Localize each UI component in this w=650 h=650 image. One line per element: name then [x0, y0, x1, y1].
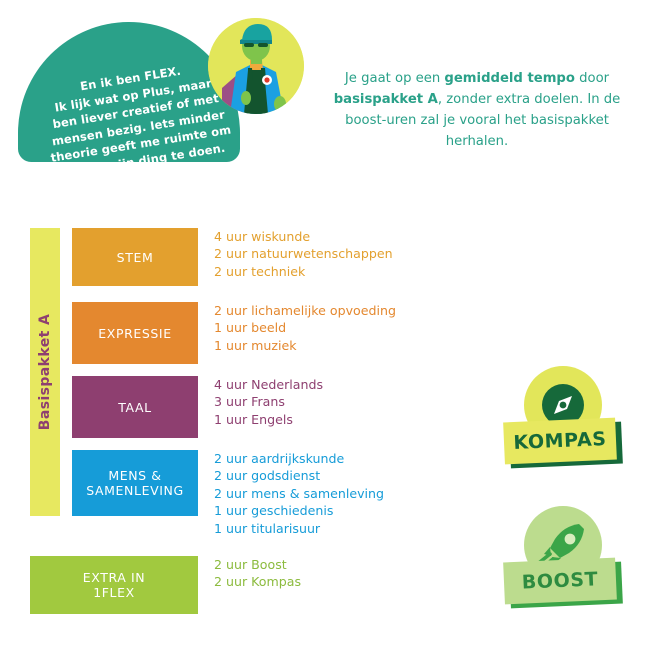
- course-item: 2 uur Kompas: [214, 573, 301, 590]
- domain-course-list: 4 uur Nederlands3 uur Frans1 uur Engels: [214, 376, 323, 428]
- intro-emphasis-tempo: gemiddeld tempo: [444, 71, 575, 86]
- course-item: 4 uur wiskunde: [214, 228, 393, 245]
- speech-bubble: En ik ben FLEX. Ik lijk wat op Plus, maa…: [18, 22, 240, 162]
- badge-plate: BOOST: [503, 558, 617, 605]
- course-item: 1 uur Engels: [214, 411, 323, 428]
- badge-label: BOOST: [521, 568, 598, 593]
- domain-row: STEM4 uur wiskunde2 uur natuurwetenschap…: [0, 228, 650, 286]
- intro-text-part-2: door: [575, 71, 609, 86]
- badge-plate: KOMPAS: [503, 418, 617, 465]
- flex-student-avatar: [208, 18, 304, 114]
- course-item: 3 uur Frans: [214, 393, 323, 410]
- course-item: 2 uur godsdienst: [214, 467, 384, 484]
- course-item: 2 uur Boost: [214, 556, 301, 573]
- domain-chip-expressie[interactable]: EXPRESSIE: [72, 302, 198, 364]
- domain-course-list: 2 uur lichamelijke opvoeding1 uur beeld1…: [214, 302, 396, 354]
- domain-course-list: 4 uur wiskunde2 uur natuurwetenschappen2…: [214, 228, 393, 280]
- domain-row: EXPRESSIE2 uur lichamelijke opvoeding1 u…: [0, 302, 650, 364]
- intro-text-part-1: Je gaat op een: [345, 71, 445, 86]
- badge-boost[interactable]: BOOST: [500, 506, 626, 610]
- course-item: 4 uur Nederlands: [214, 376, 323, 393]
- domain-course-list: 2 uur aardrijkskunde2 uur godsdienst2 uu…: [214, 450, 384, 537]
- domain-chip-stem[interactable]: STEM: [72, 228, 198, 286]
- course-item: 1 uur beeld: [214, 319, 396, 336]
- package-section: Basispakket A STEM4 uur wiskunde2 uur na…: [0, 222, 650, 622]
- course-item: 1 uur geschiedenis: [214, 502, 384, 519]
- badge-kompas[interactable]: KOMPAS: [500, 366, 626, 470]
- badge-label: KOMPAS: [513, 428, 607, 454]
- domain-chip-taal[interactable]: TAAL: [72, 376, 198, 438]
- domain-chip-mens-samenleving[interactable]: MENS & SAMENLEVING: [72, 450, 198, 516]
- course-item: 2 uur aardrijkskunde: [214, 450, 384, 467]
- course-item: 2 uur lichamelijke opvoeding: [214, 302, 396, 319]
- course-item: 2 uur mens & samenleving: [214, 485, 384, 502]
- course-item: 2 uur techniek: [214, 263, 393, 280]
- hero-section: En ik ben FLEX. Ik lijk wat op Plus, maa…: [0, 0, 650, 205]
- domain-chip-extra-in-1flex[interactable]: EXTRA IN 1FLEX: [30, 556, 198, 614]
- course-item: 2 uur natuurwetenschappen: [214, 245, 393, 262]
- course-item: 1 uur muziek: [214, 337, 396, 354]
- domain-course-list: 2 uur Boost2 uur Kompas: [214, 556, 301, 591]
- intro-paragraph: Je gaat op een gemiddeld tempo door basi…: [332, 68, 622, 152]
- course-item: 1 uur titularisuur: [214, 520, 384, 537]
- intro-emphasis-package: basispakket A: [334, 92, 438, 107]
